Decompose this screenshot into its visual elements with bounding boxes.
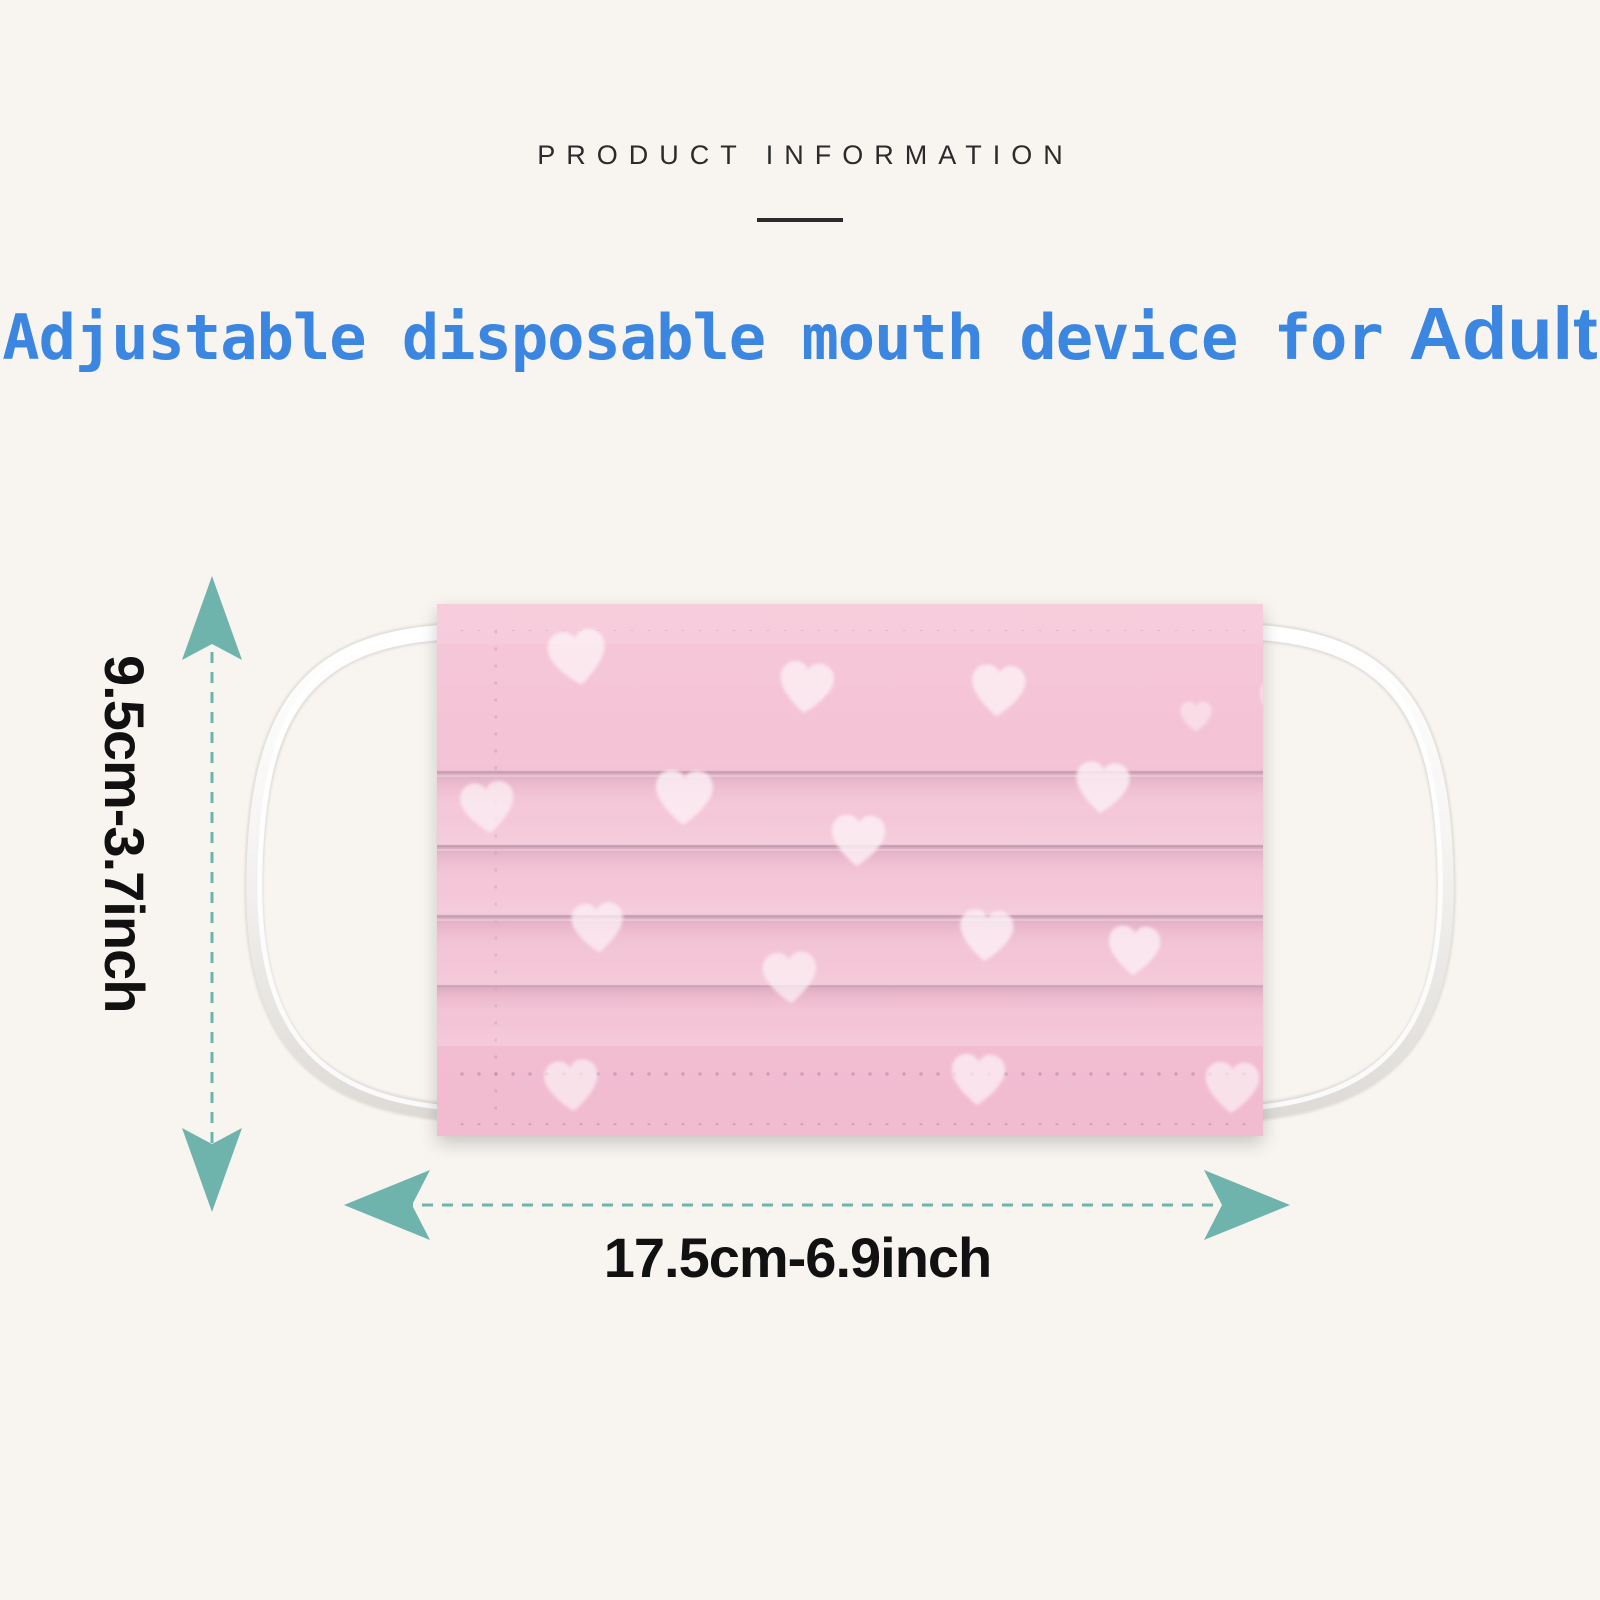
headline: Adjustable disposable mouth device forAd… — [0, 297, 1600, 371]
heart-shape — [1107, 925, 1161, 977]
heart-shape — [570, 901, 625, 954]
heart-shape — [546, 627, 610, 689]
height-dimension-label: 9.5cm-3.7inch — [94, 655, 154, 1155]
height-dimension-line — [182, 576, 242, 1212]
heart-shape — [1260, 678, 1312, 727]
heart-shape — [1205, 1061, 1260, 1114]
width-dimension-label: 17.5cm-6.9inch — [0, 1225, 1600, 1290]
mask-pleats — [437, 772, 1263, 1046]
mask-body — [437, 604, 1263, 1136]
heart-shape — [1180, 702, 1211, 732]
mask-top-stitching — [455, 626, 1255, 663]
heart-shape — [777, 660, 835, 716]
earloop-left — [254, 628, 450, 1112]
heart-shape — [970, 663, 1027, 718]
heart-pattern — [459, 627, 1312, 1115]
heart-shape — [958, 908, 1015, 963]
heart-shape — [951, 1053, 1006, 1106]
heart-shape — [830, 814, 886, 868]
heart-shape — [762, 951, 818, 1005]
product-illustration — [0, 0, 1600, 1600]
headline-main-text: Adjustable disposable mouth device for — [2, 301, 1382, 374]
mask-side-stitching — [452, 620, 1257, 1120]
mask-bottom-stitching — [455, 1072, 1255, 1125]
headline-accent-text: Adult — [1409, 292, 1598, 375]
product-info-page: PRODUCT INFORMATION Adjustable disposabl… — [0, 0, 1600, 1600]
heart-shape — [655, 769, 714, 826]
heart-shape — [459, 780, 517, 836]
title-divider — [757, 218, 843, 222]
heart-shape — [1073, 760, 1131, 815]
page-title: PRODUCT INFORMATION — [0, 140, 1600, 171]
earloop-right — [1250, 628, 1446, 1112]
heart-shape — [543, 1058, 601, 1113]
